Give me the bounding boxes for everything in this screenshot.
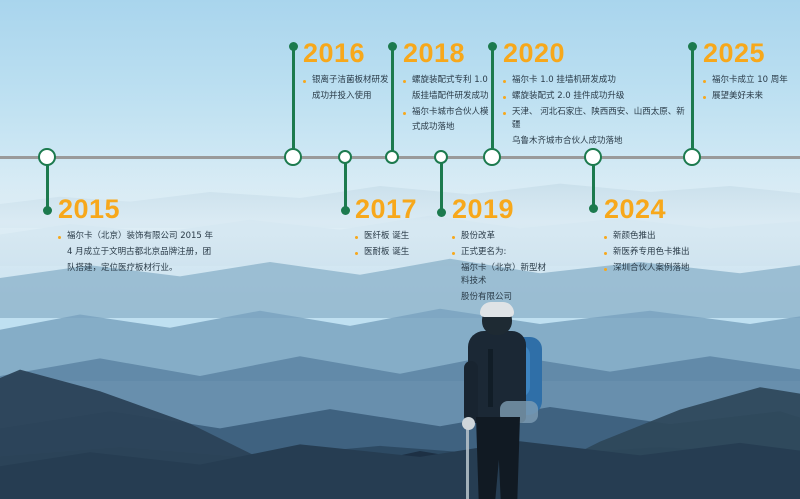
entry-year-2015: 2015	[58, 196, 228, 223]
entry-bullets-2015: 福尔卡（北京）装饰有限公司 2015 年 4 月成立于文明古都北京品牌注册，团 …	[58, 230, 228, 275]
stem-cap-2015	[43, 206, 52, 215]
stem-cap-2020	[488, 42, 497, 51]
bullet-item: 天津、 河北石家庄、陕西西安、山西太原、新疆	[503, 106, 688, 134]
timeline-axis	[0, 156, 800, 159]
bullet-item: 医纤板 诞生	[355, 230, 440, 244]
stem-2019	[440, 158, 443, 212]
entry-year-2018: 2018	[403, 40, 499, 67]
timeline-entry-2017: 2017 医纤板 诞生 医耐板 诞生	[355, 196, 440, 262]
bullet-item: 乌鲁木齐城市合伙人成功落地	[503, 135, 688, 149]
stem-2018	[391, 46, 394, 152]
bullet-item: 福尔卡 1.0 挂墙机研发成功	[503, 74, 688, 88]
bullet-item: 展望美好未来	[703, 90, 799, 104]
stem-2025	[691, 46, 694, 152]
entry-bullets-2025: 福尔卡成立 10 周年 展望美好未来	[703, 74, 799, 104]
entry-bullets-2018: 螺旋装配式专利 1.0 版挂墙配件研发成功 福尔卡城市合伙人模 式成功落地	[403, 74, 499, 135]
hiker-arm	[464, 361, 478, 423]
entry-year-2024: 2024	[604, 196, 724, 223]
stem-2017	[344, 158, 347, 210]
bullet-item: 4 月成立于文明古都北京品牌注册，团	[58, 246, 228, 260]
entry-year-2025: 2025	[703, 40, 799, 67]
bullet-item: 新医养专用色卡推出	[604, 246, 724, 260]
stem-cap-2016	[289, 42, 298, 51]
stem-cap-2018	[388, 42, 397, 51]
stem-cap-2019	[437, 208, 446, 217]
timeline-entry-2016: 2016 银离子洁菌板材研发 成功并投入使用	[303, 40, 395, 106]
bullet-item: 队搭建，定位医疗板材行业。	[58, 262, 228, 276]
timeline-node-2015[interactable]	[38, 148, 56, 166]
stem-cap-2025	[688, 42, 697, 51]
backpack-strap	[488, 349, 493, 407]
timeline-infographic: 2015 福尔卡（北京）装饰有限公司 2015 年 4 月成立于文明古都北京品牌…	[0, 0, 800, 499]
stem-cap-2017	[341, 206, 350, 215]
timeline-node-2016[interactable]	[284, 148, 302, 166]
bullet-item: 银离子洁菌板材研发	[303, 74, 395, 88]
timeline-entry-2020: 2020 福尔卡 1.0 挂墙机研发成功 螺旋装配式 2.0 挂件成功升级 天津…	[503, 40, 688, 151]
timeline-node-2025[interactable]	[683, 148, 701, 166]
entry-bullets-2024: 新颜色推出 新医养专用色卡推出 深圳合伙人案例落地	[604, 230, 724, 275]
bullet-item: 深圳合伙人案例落地	[604, 262, 724, 276]
entry-year-2019: 2019	[452, 196, 552, 223]
timeline-node-2020[interactable]	[483, 148, 501, 166]
hiker-figure	[440, 305, 560, 499]
entry-bullets-2017: 医纤板 诞生 医耐板 诞生	[355, 230, 440, 260]
entry-year-2016: 2016	[303, 40, 395, 67]
hiker-legs	[476, 417, 520, 499]
timeline-entry-2019: 2019 股份改革 正式更名为: 福尔卡（北京）新型材料技术 股份有限公司	[452, 196, 552, 307]
timeline-entry-2018: 2018 螺旋装配式专利 1.0 版挂墙配件研发成功 福尔卡城市合伙人模 式成功…	[403, 40, 499, 137]
timeline-node-2024[interactable]	[584, 148, 602, 166]
timeline-node-2019[interactable]	[434, 150, 448, 164]
timeline-entry-2015: 2015 福尔卡（北京）装饰有限公司 2015 年 4 月成立于文明古都北京品牌…	[58, 196, 228, 277]
trekking-pole	[466, 425, 469, 499]
bullet-item: 新颜色推出	[604, 230, 724, 244]
entry-bullets-2019: 股份改革 正式更名为: 福尔卡（北京）新型材料技术 股份有限公司	[452, 230, 552, 305]
bullet-item: 式成功落地	[403, 121, 499, 135]
bullet-item: 福尔卡城市合伙人模	[403, 106, 499, 120]
bullet-item: 螺旋装配式 2.0 挂件成功升级	[503, 90, 688, 104]
bullet-item: 股份改革	[452, 230, 552, 244]
timeline-node-2017[interactable]	[338, 150, 352, 164]
bullet-item: 福尔卡（北京）装饰有限公司 2015 年	[58, 230, 228, 244]
timeline-entry-2024: 2024 新颜色推出 新医养专用色卡推出 深圳合伙人案例落地	[604, 196, 724, 277]
entry-bullets-2016: 银离子洁菌板材研发 成功并投入使用	[303, 74, 395, 104]
stem-cap-2024	[589, 204, 598, 213]
bullet-item: 医耐板 诞生	[355, 246, 440, 260]
stem-2016	[292, 46, 295, 152]
stem-2020	[491, 46, 494, 152]
bullet-item: 股份有限公司	[452, 291, 552, 305]
bullet-item: 版挂墙配件研发成功	[403, 90, 499, 104]
hiker-hand	[462, 417, 475, 430]
bullet-item: 正式更名为:	[452, 246, 552, 260]
bullet-item: 成功并投入使用	[303, 90, 395, 104]
bullet-item: 螺旋装配式专利 1.0	[403, 74, 499, 88]
entry-year-2020: 2020	[503, 40, 688, 67]
bullet-item: 福尔卡（北京）新型材料技术	[452, 262, 552, 290]
entry-bullets-2020: 福尔卡 1.0 挂墙机研发成功 螺旋装配式 2.0 挂件成功升级 天津、 河北石…	[503, 74, 688, 149]
timeline-node-2018[interactable]	[385, 150, 399, 164]
entry-year-2017: 2017	[355, 196, 440, 223]
timeline-entry-2025: 2025 福尔卡成立 10 周年 展望美好未来	[703, 40, 799, 106]
bullet-item: 福尔卡成立 10 周年	[703, 74, 799, 88]
